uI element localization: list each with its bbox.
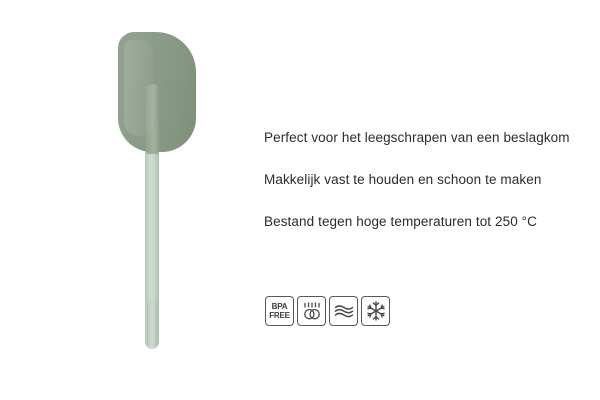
certification-badge-row: BPA FREE	[265, 296, 390, 326]
feature-item-3: Bestand tegen hoge temperaturen tot 250 …	[264, 212, 576, 232]
feature-item-2: Makkelijk vast te houden en schoon te ma…	[264, 170, 576, 190]
dishwasher-safe-icon	[301, 300, 323, 322]
snowflake-icon	[365, 300, 387, 322]
bpa-free-line-1: BPA	[269, 302, 290, 311]
feature-item-1: Perfect voor het leegschrapen van een be…	[264, 128, 576, 148]
badge-freezer-safe	[361, 296, 390, 326]
product-feature-panel: Perfect voor het leegschrapen van een be…	[0, 0, 600, 400]
bpa-free-line-2: FREE	[269, 311, 290, 320]
product-image	[0, 0, 250, 400]
spatula-handle-tip	[147, 300, 158, 348]
spatula-illustration	[0, 0, 250, 400]
badge-heat-resistant	[329, 296, 358, 326]
heat-waves-icon	[333, 300, 355, 322]
badge-bpa-free: BPA FREE	[265, 296, 294, 326]
feature-list: Perfect voor het leegschrapen van een be…	[264, 128, 576, 232]
bpa-free-icon: BPA FREE	[269, 302, 290, 320]
spatula-head-highlight	[124, 40, 154, 136]
badge-dishwasher-safe	[297, 296, 326, 326]
